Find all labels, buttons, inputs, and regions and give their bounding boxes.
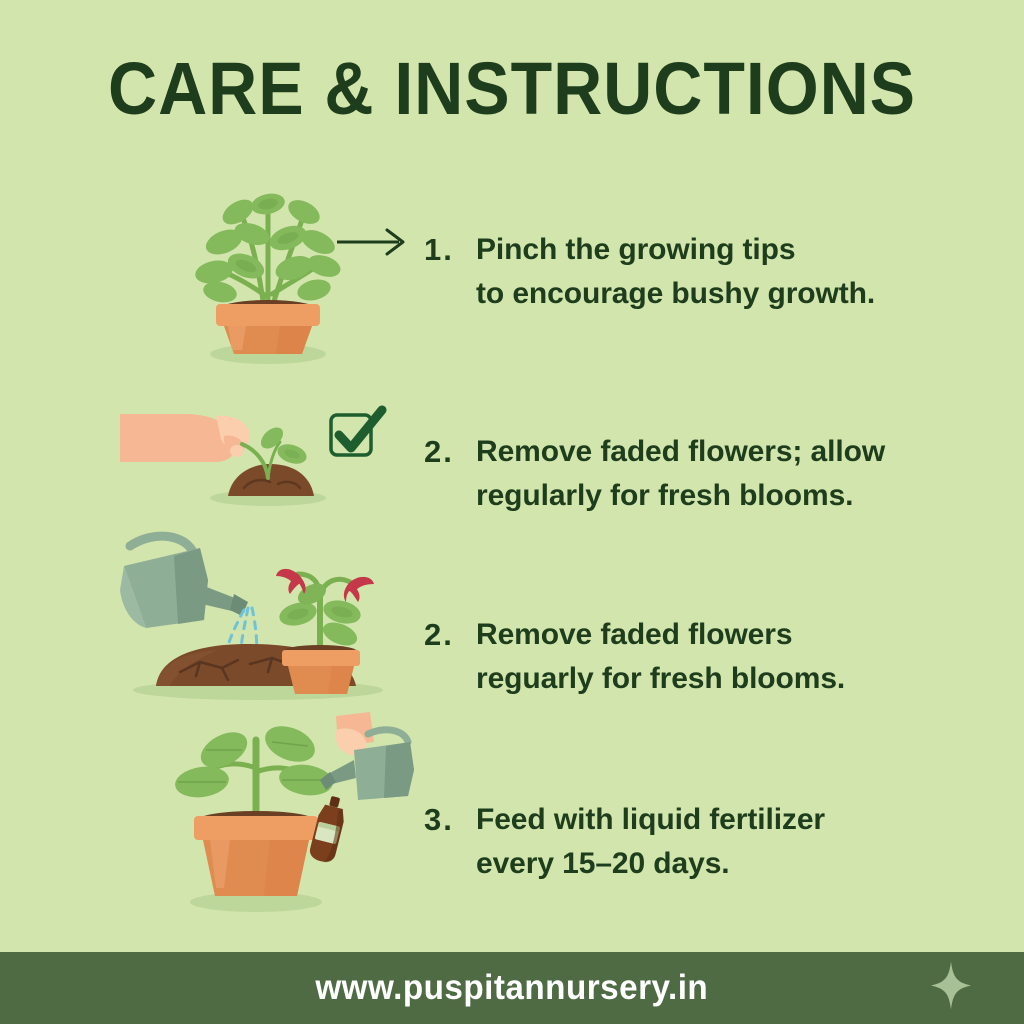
illustration-watering-can-soil-flowering-plant — [108, 528, 408, 713]
step-text-4: Feed with liquid fertilizer every 15–20 … — [476, 798, 825, 886]
step-text-1: Pinch the growing tips to encourage bush… — [476, 228, 875, 316]
step-item-4: 3. Feed with liquid fertilizer every 15–… — [424, 798, 825, 886]
illustration-potted-bushy-plant — [168, 168, 368, 373]
arrow-right-icon — [333, 222, 413, 267]
step-number-4: 3. — [424, 798, 476, 842]
step-number-3: 2. — [424, 613, 476, 657]
step-item-1: 1. Pinch the growing tips to encourage b… — [424, 228, 875, 316]
step-number-2: 2. — [424, 430, 476, 474]
page-title: CARE & INSTRUCTIONS — [41, 52, 983, 126]
website-url[interactable]: www.puspitannursery.in — [316, 968, 709, 1008]
step-text-2: Remove faded flowers; allow regularly fo… — [476, 430, 885, 518]
sparkle-icon — [930, 962, 972, 1015]
step-item-2: 2. Remove faded flowers; allow regularly… — [424, 430, 885, 518]
infographic-canvas: CARE & INSTRUCTIONS — [0, 0, 1024, 1024]
footer-bar: www.puspitannursery.in — [0, 952, 1024, 1024]
checkbox-checked-icon — [326, 404, 390, 469]
step-number-1: 1. — [424, 228, 476, 272]
step-text-3: Remove faded flowers reguarly for fresh … — [476, 613, 845, 701]
illustration-potted-plant-fertilizer-bottle — [150, 706, 420, 921]
step-item-3: 2. Remove faded flowers reguarly for fre… — [424, 613, 845, 701]
